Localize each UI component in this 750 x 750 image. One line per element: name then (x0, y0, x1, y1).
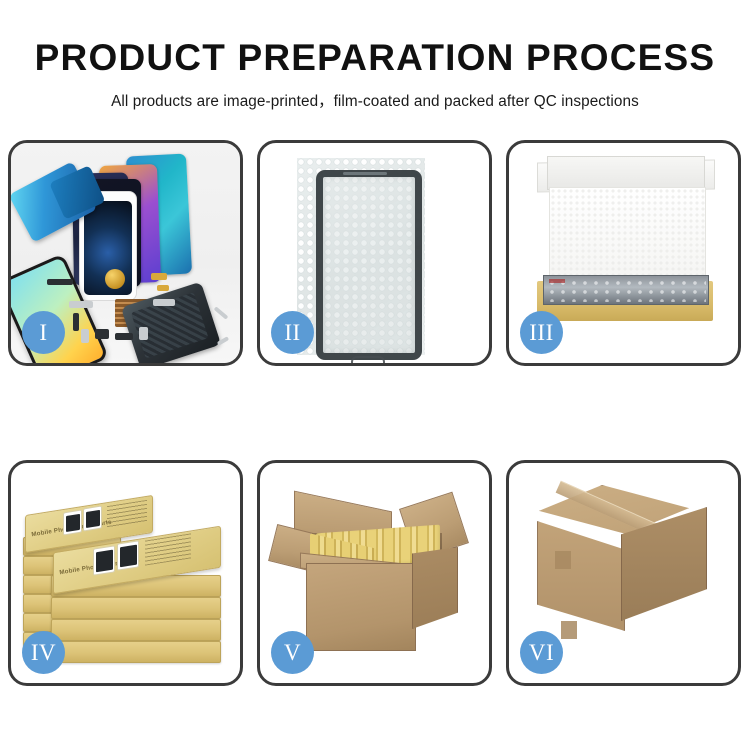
step-badge-5: V (271, 631, 314, 674)
process-step-panel-2[interactable]: II (257, 140, 492, 366)
process-step-grid: I II III (8, 140, 742, 686)
page-header: PRODUCT PREPARATION PROCESS All products… (0, 0, 750, 111)
process-step-panel-5[interactable]: V (257, 460, 492, 686)
process-step-panel-1[interactable]: I (8, 140, 243, 366)
product-preparation-page: PRODUCT PREPARATION PROCESS All products… (0, 0, 750, 750)
step-badge-6: VI (520, 631, 563, 674)
step-badge-1: I (22, 311, 65, 354)
process-step-panel-4[interactable]: Mobile Phone Spare Parts Mobile Phone Sp… (8, 460, 243, 686)
page-title: PRODUCT PREPARATION PROCESS (0, 0, 750, 79)
process-step-panel-3[interactable]: III (506, 140, 741, 366)
page-subtitle: All products are image-printed，film-coat… (0, 79, 750, 111)
process-step-panel-6[interactable]: VI (506, 460, 741, 686)
step-badge-2: II (271, 311, 314, 354)
step-badge-4: IV (22, 631, 65, 674)
step-badge-3: III (520, 311, 563, 354)
